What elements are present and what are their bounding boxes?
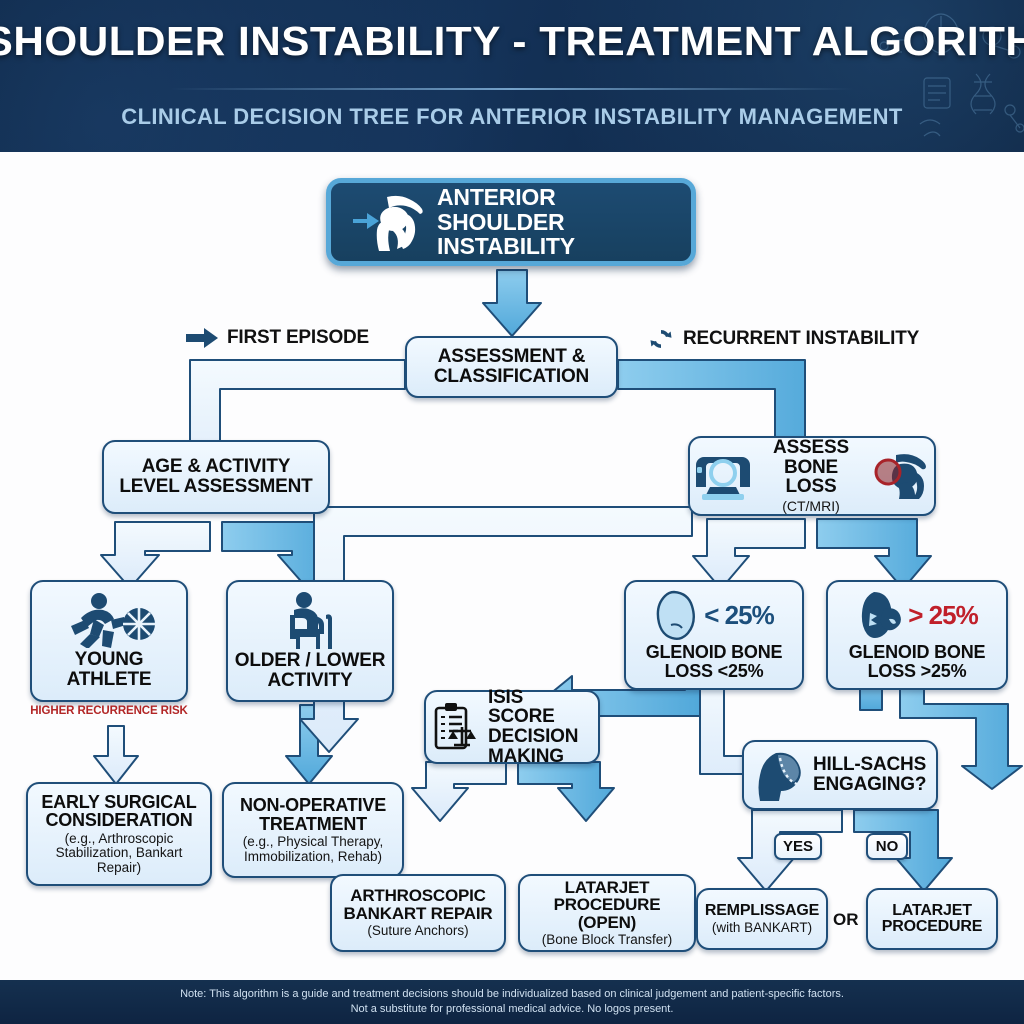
node-arthroscopic-bankart-title: ARTHROSCOPIC BANKART REPAIR — [338, 887, 498, 922]
node-glenoid-bone-loss-under-25[interactable]: < 25% GLENOID BONE LOSS <25% — [624, 580, 804, 690]
running-athlete-icon — [61, 592, 157, 648]
humeral-head-lesion-icon — [750, 749, 806, 801]
node-non-operative-title: NON-OPERATIVE TREATMENT — [230, 796, 396, 833]
node-latarjet-procedure[interactable]: LATARJET PROCEDURE — [866, 888, 998, 950]
node-assess-bone-loss-title: ASSESS BONE LOSS — [757, 438, 865, 497]
node-early-surgical-subtitle: (e.g., Arthroscopic Stabilization, Banka… — [34, 832, 204, 875]
node-assessment-title: ASSESSMENT & CLASSIFICATION — [413, 347, 610, 386]
node-hill-sachs-engaging[interactable]: HILL-SACHS ENGAGING? — [742, 740, 938, 810]
node-isis-score-decision-making[interactable]: ISIS SCORE DECISION MAKING — [424, 690, 600, 764]
clipboard-scales-icon — [432, 701, 480, 753]
glenoid-under-badge: < 25% — [704, 600, 773, 631]
decision-label-or: OR — [833, 910, 859, 930]
flowchart-canvas: FIRST EPISODE RECURRENT INSTABILITY ANTE… — [0, 152, 1024, 980]
mri-scanner-icon — [696, 451, 750, 501]
footer-note-line2: Not a substitute for professional medica… — [351, 1003, 674, 1016]
node-young-athlete-title: YOUNG ATHLETE — [38, 650, 180, 689]
node-non-operative-treatment[interactable]: NON-OPERATIVE TREATMENT (e.g., Physical … — [222, 782, 404, 878]
node-latarjet-title: LATARJET PROCEDURE — [874, 903, 990, 936]
young-athlete-risk-note: HIGHER RECURRENCE RISK — [30, 705, 188, 717]
node-glenoid-under-title: GLENOID BONE LOSS <25% — [632, 643, 796, 680]
branch-label-recurrent-text: RECURRENT INSTABILITY — [683, 328, 919, 350]
node-age-activity-title: AGE & ACTIVITY LEVEL ASSESSMENT — [110, 457, 322, 496]
footer-note-line1: Note: This algorithm is a guide and trea… — [180, 988, 844, 1001]
node-root-title: ANTERIOR SHOULDER INSTABILITY — [437, 185, 685, 258]
node-early-surgical-consideration[interactable]: EARLY SURGICAL CONSIDERATION (e.g., Arth… — [26, 782, 212, 886]
node-older-lower-title: OLDER / LOWER ACTIVITY — [234, 651, 386, 690]
decision-label-yes: YES — [774, 833, 822, 860]
node-remplissage[interactable]: REMPLISSAGE (with BANKART) — [696, 888, 828, 950]
glenoid-bone-icon — [654, 589, 700, 641]
node-remplissage-subtitle: (with BANKART) — [712, 921, 812, 935]
page-header: SHOULDER INSTABILITY - TREATMENT ALGORIT… — [0, 0, 1024, 152]
node-assess-bone-loss-subtitle: (CT/MRI) — [782, 499, 840, 514]
header-divider — [170, 88, 854, 90]
seated-elderly-person-icon — [272, 591, 348, 649]
node-older-lower-activity[interactable]: OLDER / LOWER ACTIVITY — [226, 580, 394, 702]
refresh-cycle-icon — [648, 327, 674, 351]
node-remplissage-title: REMPLISSAGE — [705, 903, 819, 919]
page-title: SHOULDER INSTABILITY - TREATMENT ALGORIT… — [0, 18, 1024, 65]
node-glenoid-bone-loss-over-25[interactable]: > 25% GLENOID BONE LOSS >25% — [826, 580, 1008, 690]
page-footer: Note: This algorithm is a guide and trea… — [0, 980, 1024, 1024]
node-arthroscopic-bankart-subtitle: (Suture Anchors) — [367, 924, 468, 938]
node-young-athlete[interactable]: YOUNG ATHLETE — [30, 580, 188, 702]
branch-label-first-episode-text: FIRST EPISODE — [227, 327, 369, 349]
node-early-surgical-title: EARLY SURGICAL CONSIDERATION — [34, 793, 204, 830]
node-isis-title: ISIS SCORE DECISION MAKING — [488, 688, 592, 766]
node-assess-bone-loss[interactable]: ASSESS BONE LOSS (CT/MRI) — [688, 436, 936, 516]
node-latarjet-open-subtitle: (Bone Block Transfer) — [542, 933, 673, 947]
node-arthroscopic-bankart-repair[interactable]: ARTHROSCOPIC BANKART REPAIR (Suture Anch… — [330, 874, 506, 952]
node-assessment-classification[interactable]: ASSESSMENT & CLASSIFICATION — [405, 336, 618, 398]
branch-label-first-episode: FIRST EPISODE — [186, 327, 369, 349]
glenoid-over-badge: > 25% — [908, 600, 977, 631]
branch-label-recurrent: RECURRENT INSTABILITY — [648, 327, 919, 351]
shoulder-lesion-highlight-icon — [872, 452, 928, 500]
node-latarjet-procedure-open[interactable]: LATARJET PROCEDURE (OPEN) (Bone Block Tr… — [518, 874, 696, 952]
node-non-operative-subtitle: (e.g., Physical Therapy, Immobilization,… — [230, 835, 396, 864]
node-age-activity-assessment[interactable]: AGE & ACTIVITY LEVEL ASSESSMENT — [102, 440, 330, 514]
node-latarjet-open-title: LATARJET PROCEDURE (OPEN) — [526, 879, 688, 932]
node-hill-sachs-title: HILL-SACHS ENGAGING? — [813, 755, 930, 794]
glenoid-bone-defect-icon — [856, 589, 904, 641]
arrow-right-icon — [186, 328, 218, 348]
node-glenoid-over-title: GLENOID BONE LOSS >25% — [834, 643, 1000, 680]
decision-label-no: NO — [866, 833, 908, 860]
node-anterior-shoulder-instability[interactable]: ANTERIOR SHOULDER INSTABILITY — [326, 178, 696, 266]
page-subtitle: CLINICAL DECISION TREE FOR ANTERIOR INST… — [0, 104, 1024, 130]
shoulder-anatomy-icon — [343, 191, 427, 253]
